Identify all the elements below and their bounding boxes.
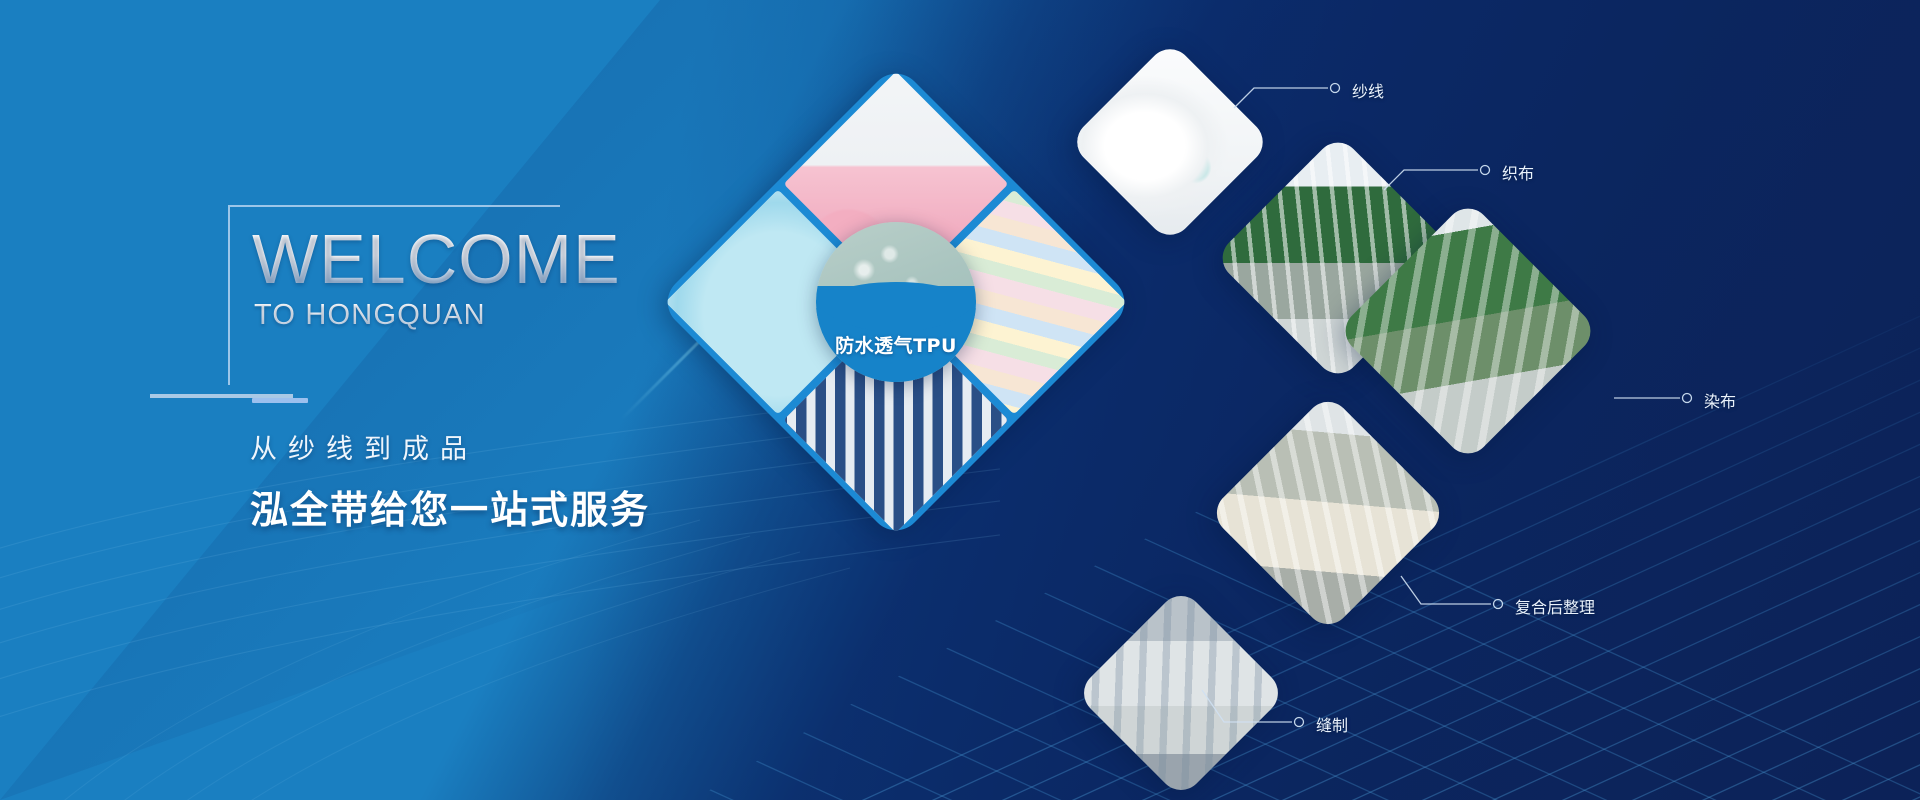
connector-finishing-label: 复合后整理 [1515,594,1595,618]
connector-dyeing-label: 染布 [1704,388,1736,412]
waterproof-badge: 防水透气TPU [816,222,976,382]
connector-yarn-label: 纱线 [1352,78,1384,102]
waterproof-badge-label: 防水透气TPU [816,331,976,358]
connector-sewing-label: 缝制 [1316,712,1348,736]
connector-weaving-label: 织布 [1502,160,1534,184]
connector-sewing: 缝制 [1200,686,1330,742]
connector-weaving: 织布 [1382,152,1512,192]
connector-dyeing: 染布 [1612,386,1722,410]
hero-banner: WELCOME TO HONGQUAN 从纱线到成品 泓全带给您一站式服务 [0,0,1920,800]
connector-finishing: 复合后整理 [1399,570,1529,624]
connector-yarn: 纱线 [1232,70,1362,110]
process-diagram: 防水透气TPU 纱线 [0,0,1920,800]
